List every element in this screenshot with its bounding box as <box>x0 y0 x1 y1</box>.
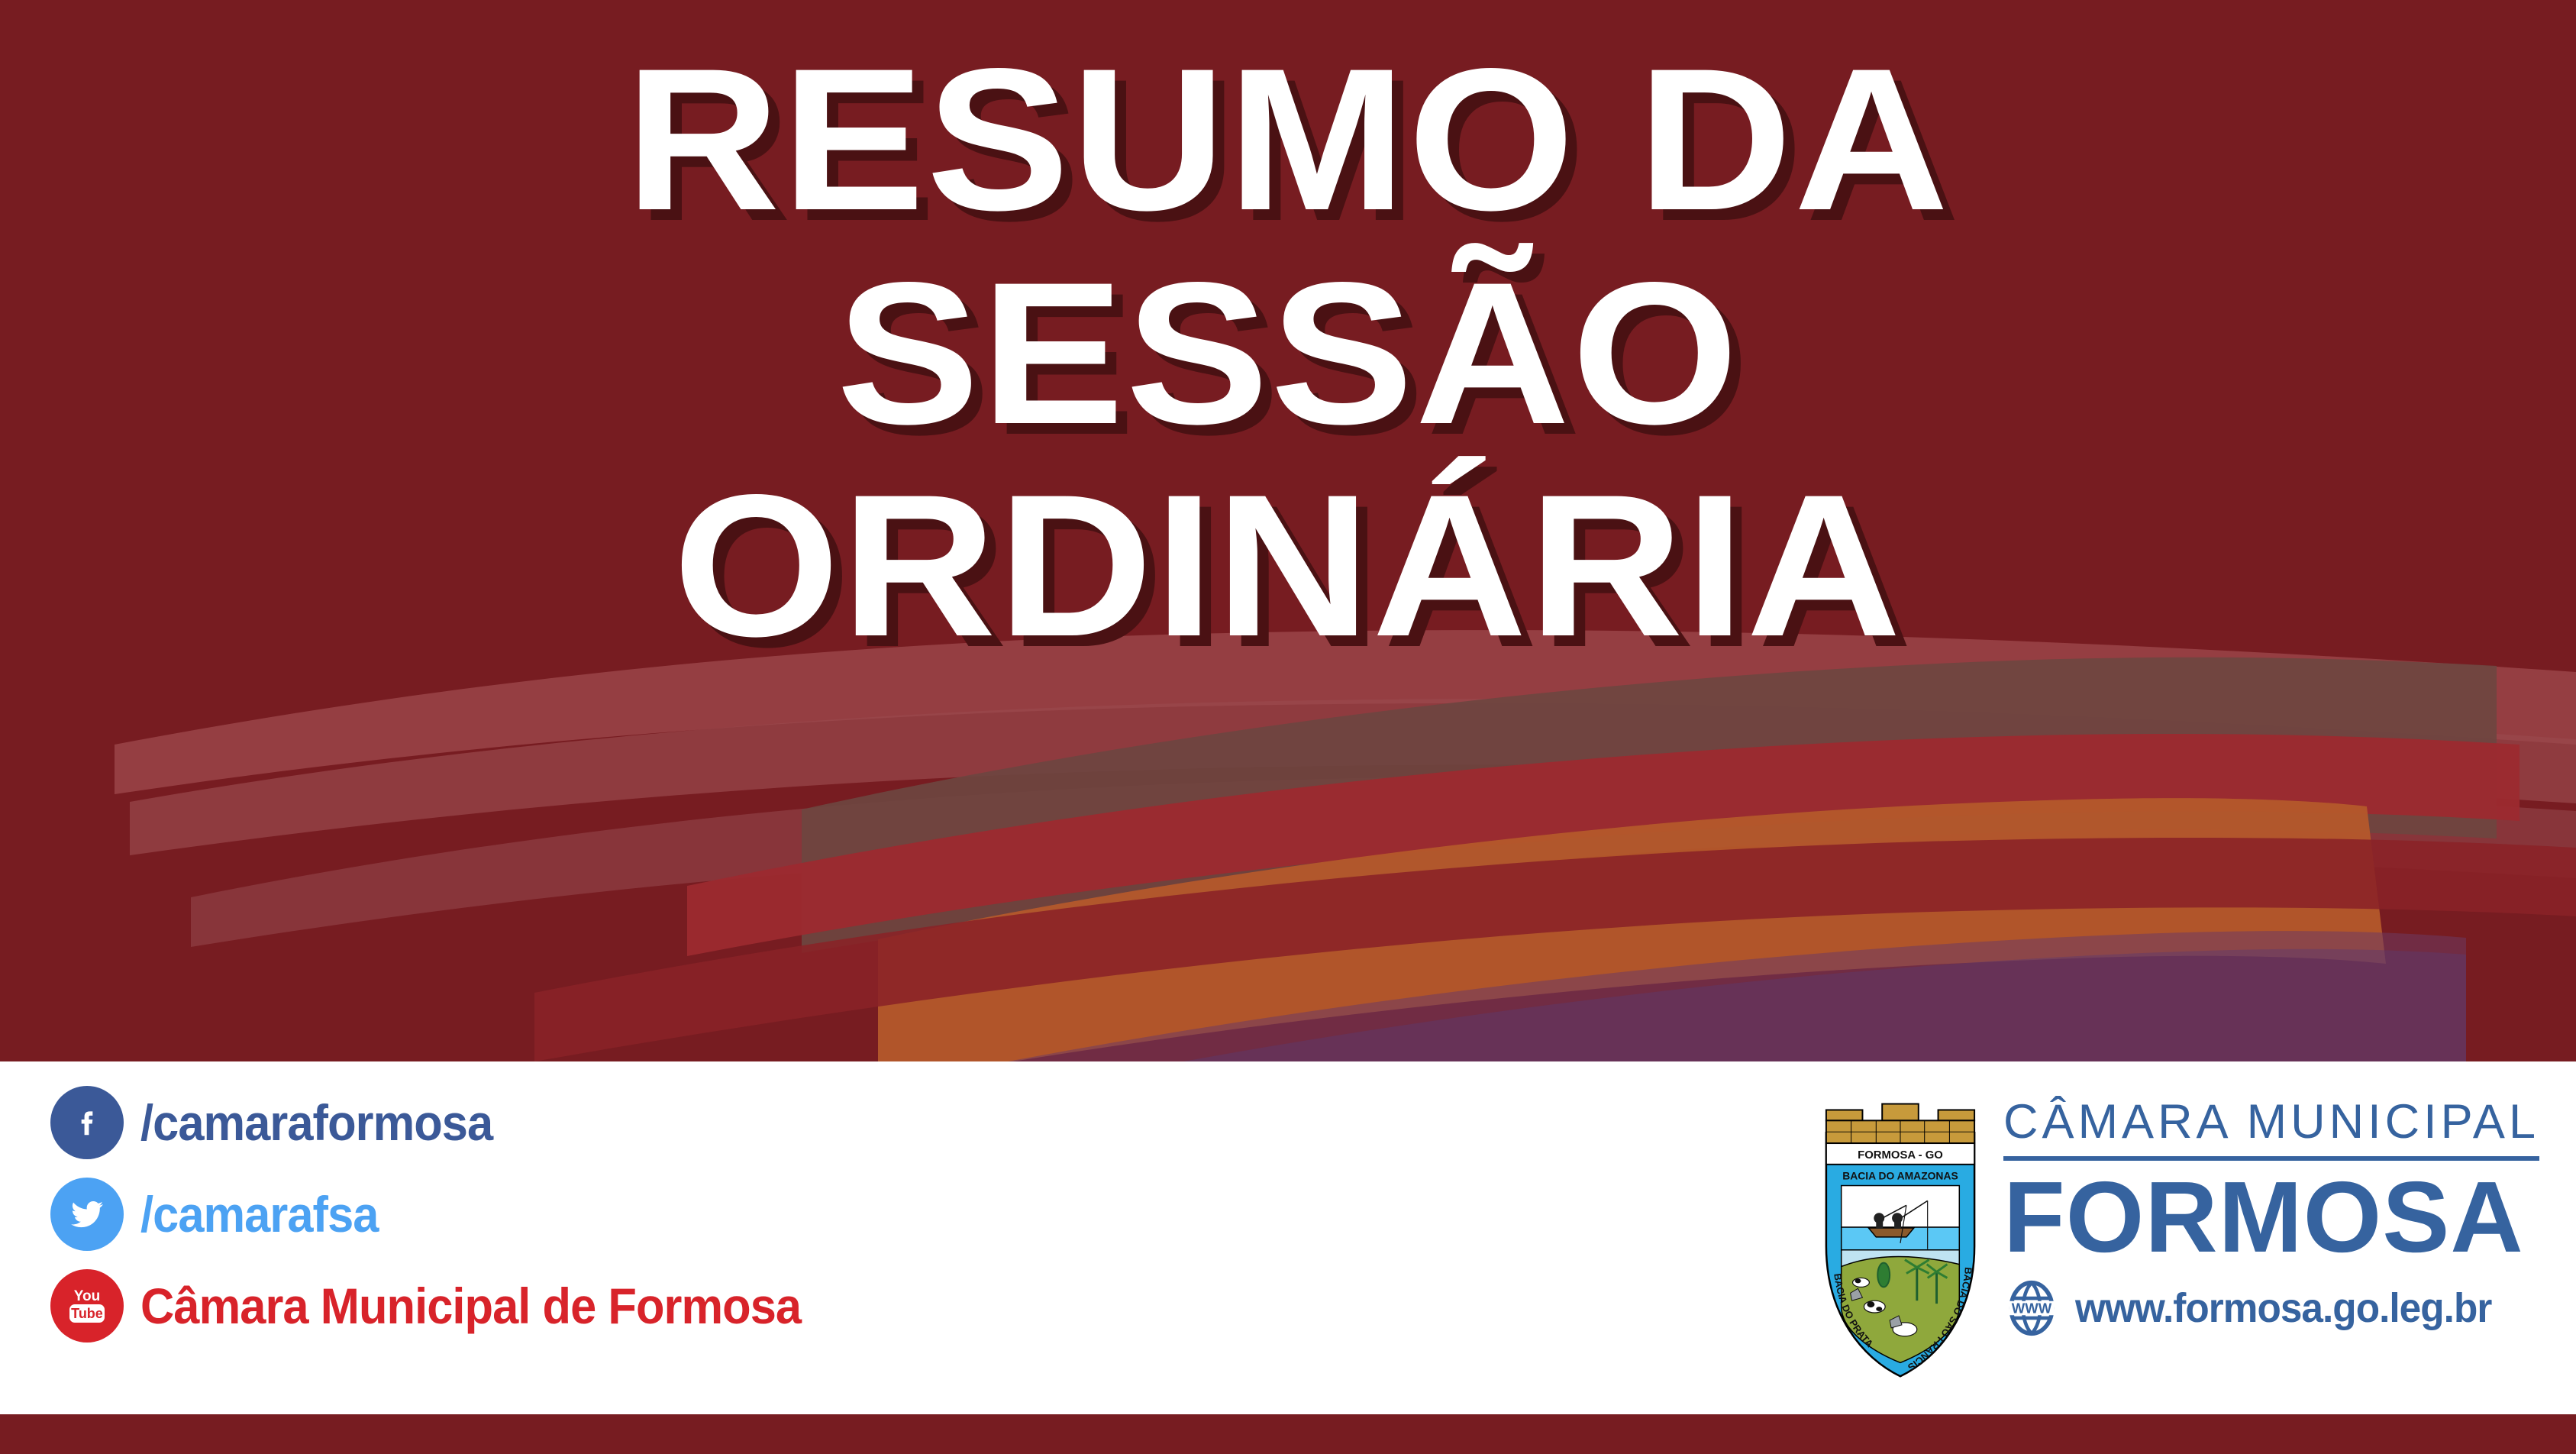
www-globe-icon: WWW <box>2003 1280 2060 1336</box>
formosa-coat-of-arms-icon: FORMOSA - GO BACIA DO AMAZONAS <box>1817 1078 1984 1384</box>
crest-basin-top-label: BACIA DO AMAZONAS <box>1842 1170 1958 1182</box>
social-links-list: /camaraformosa /camarafsa You Tube <box>50 1077 851 1352</box>
brand-line-camara-municipal: CÂMARA MUNICIPAL <box>2003 1098 2539 1146</box>
bottom-accent-bar <box>0 1414 2576 1454</box>
brand-line-formosa: FORMOSA <box>2003 1167 2539 1268</box>
poster-root: RESUMO DA SESSÃO ORDINÁRIA /camaraformos… <box>0 0 2576 1454</box>
poster-title-block: RESUMO DA SESSÃO ORDINÁRIA <box>0 0 2576 1061</box>
social-row-facebook[interactable]: /camaraformosa <box>50 1077 851 1168</box>
brand-text-block: CÂMARA MUNICIPAL FORMOSA WWW www.formosa… <box>2003 1078 2539 1336</box>
title-line-2: SESSÃO <box>836 258 1740 451</box>
svg-text:You: You <box>74 1288 100 1304</box>
twitter-icon[interactable] <box>50 1178 124 1251</box>
brand-url-row[interactable]: WWW www.formosa.go.leg.br <box>2003 1280 2539 1336</box>
svg-text:Tube: Tube <box>71 1306 103 1321</box>
youtube-icon[interactable]: You Tube <box>50 1269 124 1343</box>
facebook-icon[interactable] <box>50 1086 124 1159</box>
svg-text:WWW: WWW <box>2012 1300 2052 1316</box>
social-row-youtube[interactable]: You Tube Câmara Municipal de Formosa <box>50 1260 851 1352</box>
title-line-1: RESUMO DA <box>625 44 1951 237</box>
social-label-twitter: /camarafsa <box>140 1185 378 1243</box>
social-row-twitter[interactable]: /camarafsa <box>50 1168 851 1260</box>
hero-section: RESUMO DA SESSÃO ORDINÁRIA <box>0 0 2576 1061</box>
footer-section: /camaraformosa /camarafsa You Tube <box>0 1061 2576 1414</box>
crest-top-label: FORMOSA - GO <box>1858 1149 1943 1162</box>
brand-website-url[interactable]: www.formosa.go.leg.br <box>2075 1284 2491 1332</box>
brand-block: FORMOSA - GO BACIA DO AMAZONAS <box>1817 1078 2539 1384</box>
social-label-facebook: /camaraformosa <box>140 1094 492 1152</box>
social-label-youtube: Câmara Municipal de Formosa <box>140 1277 801 1335</box>
title-line-3: ORDINÁRIA <box>673 470 1903 663</box>
